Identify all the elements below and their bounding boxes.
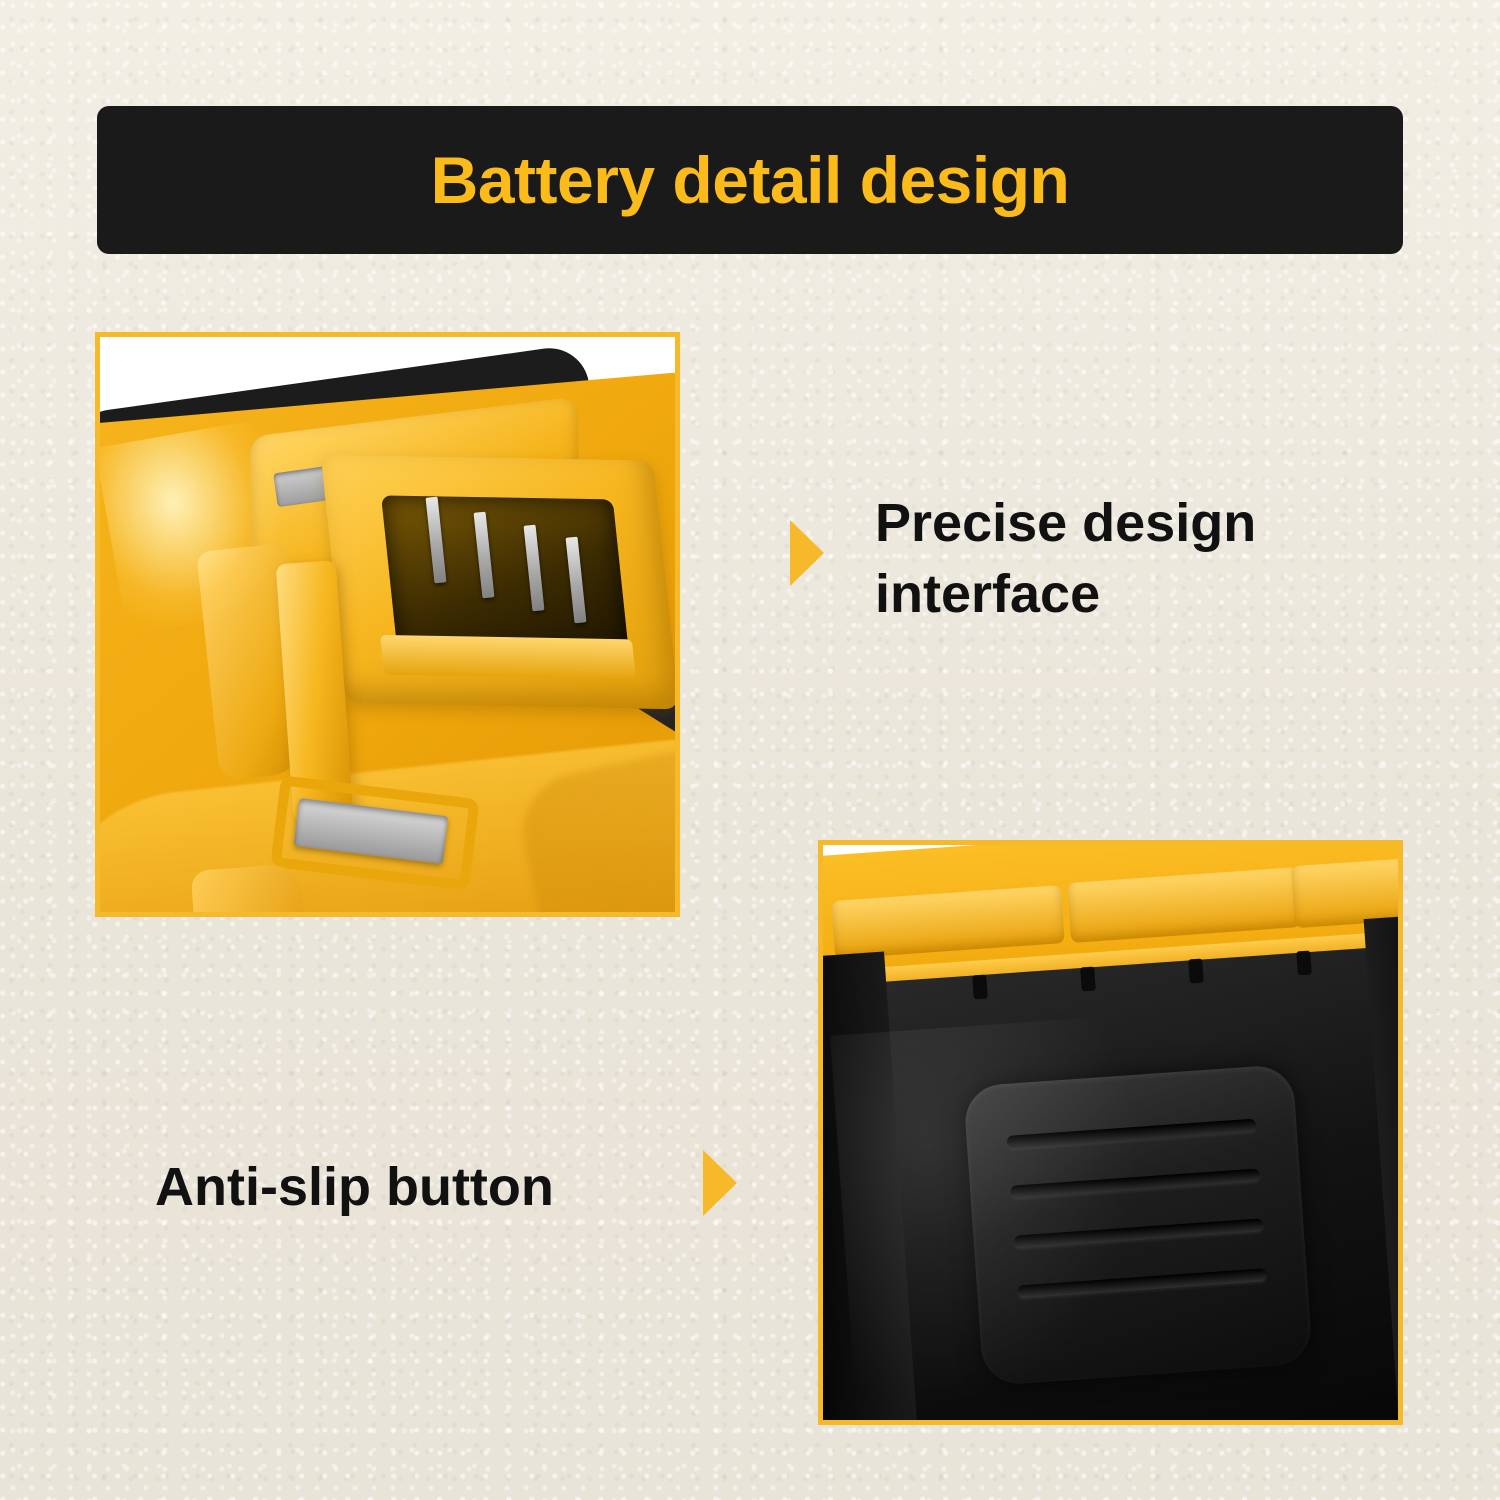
shell-notch — [1188, 959, 1204, 984]
page-title: Battery detail design — [431, 147, 1070, 213]
title-banner: Battery detail design — [97, 106, 1403, 254]
callout-line-2: interface — [875, 559, 1395, 630]
battery-cavity-lip — [380, 635, 636, 679]
photo-highlight-sheen — [830, 1015, 1156, 1415]
battery-terminal-cavity — [381, 495, 629, 653]
callout-anti-slip-button: Anti-slip button — [155, 1152, 715, 1223]
shell-notch — [972, 975, 988, 1000]
left-arrow-icon — [790, 520, 824, 586]
shell-notch — [1296, 951, 1312, 976]
anti-slip-button-photo — [818, 840, 1403, 1425]
callout-line-1: Precise design — [875, 488, 1395, 559]
battery-lower-fin — [191, 863, 310, 917]
product-detail-page: Battery detail design Precise design int… — [0, 0, 1500, 1500]
right-arrow-icon — [703, 1150, 737, 1216]
callout-precise-design-interface: Precise design interface — [875, 488, 1395, 631]
photo-highlight-glare — [95, 419, 295, 636]
battery-interface-photo — [95, 332, 680, 917]
shell-notch — [1080, 967, 1096, 992]
callout-line-1: Anti-slip button — [155, 1152, 715, 1223]
